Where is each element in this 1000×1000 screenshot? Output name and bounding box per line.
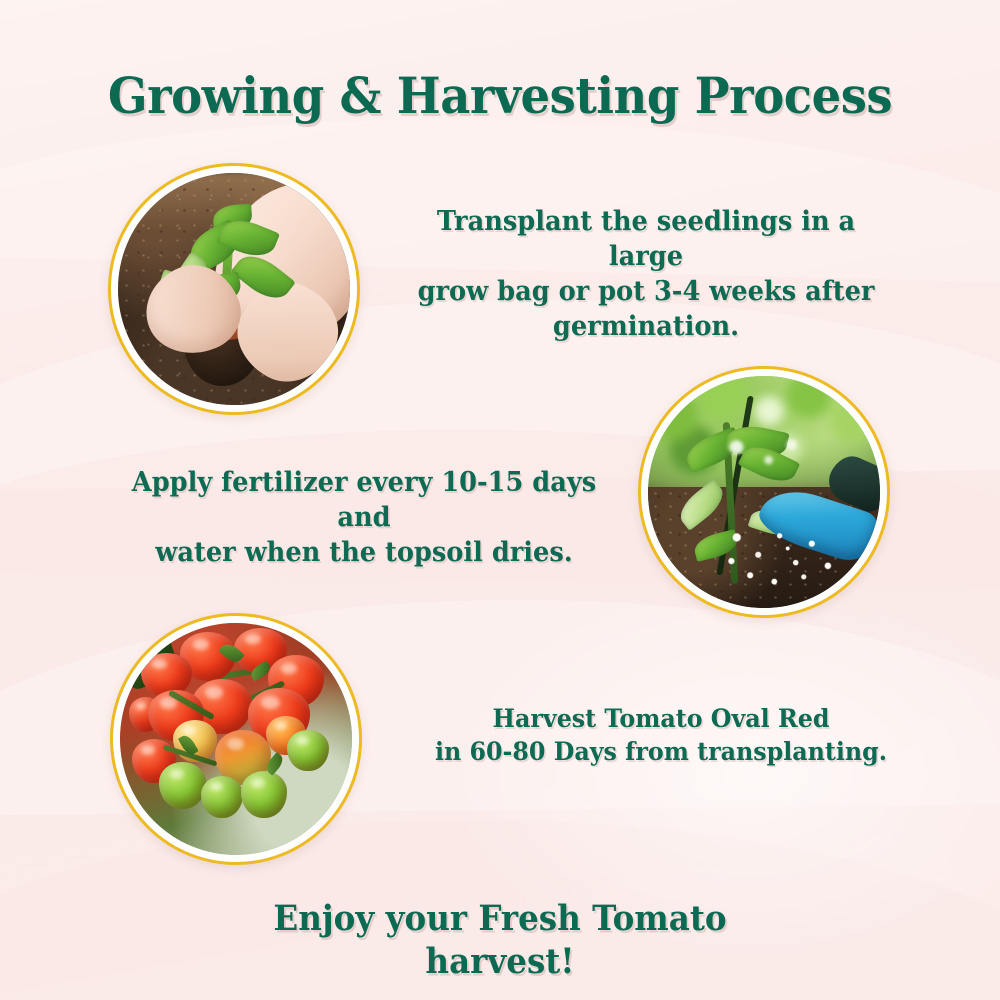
- step-3-caption-line-1: Harvest Tomato Oval Red: [409, 703, 913, 736]
- step-3-caption-line-2: in 60-80 Days from transplanting.: [409, 736, 913, 769]
- tomato: [201, 776, 243, 818]
- step-1-caption: Transplant the seedlings in a large grow…: [399, 204, 893, 344]
- tomato-harvest-image: [120, 623, 352, 855]
- step-3-photo-frame: [110, 613, 362, 865]
- seedling-planting-image: [118, 173, 350, 405]
- step-1-caption-line-1: Transplant the seedlings in a large: [399, 204, 893, 274]
- step-3-caption: Harvest Tomato Oval Red in 60-80 Days fr…: [409, 703, 913, 768]
- tomato: [159, 762, 205, 808]
- page-title: Growing & Harvesting Process: [35, 66, 965, 125]
- step-2-photo-frame: [638, 366, 890, 618]
- closing-message-line-2: harvest!: [175, 941, 826, 984]
- step-1-caption-line-2: grow bag or pot 3-4 weeks after: [399, 274, 893, 309]
- closing-message: Enjoy your Fresh Tomato harvest!: [175, 898, 826, 983]
- fertilizer-application-image: [648, 376, 880, 608]
- step-1-caption-line-3: germination.: [399, 309, 893, 344]
- fertilizer-granules: [718, 520, 853, 599]
- step-2-caption-line-1: Apply fertilizer every 10-15 days and: [108, 465, 621, 535]
- light-flecks: [718, 432, 811, 483]
- tomato: [241, 771, 287, 817]
- closing-message-line-1: Enjoy your Fresh Tomato: [175, 898, 826, 941]
- infographic-poster: Growing & Harvesting Process Transplant …: [0, 0, 1000, 1000]
- step-2-caption: Apply fertilizer every 10-15 days and wa…: [108, 465, 621, 570]
- step-1-photo-frame: [108, 163, 360, 415]
- step-2-caption-line-2: water when the topsoil dries.: [108, 535, 621, 570]
